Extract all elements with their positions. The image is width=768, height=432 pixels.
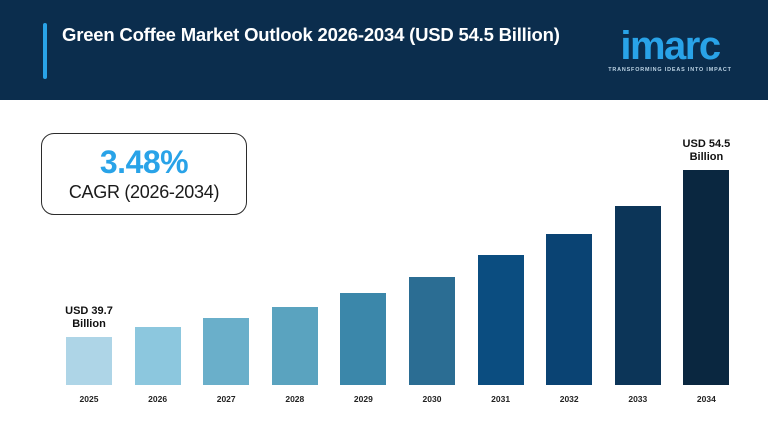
bar-group-2033: 2033 bbox=[615, 206, 661, 385]
x-axis-label-2026: 2026 bbox=[148, 394, 167, 404]
bar-2032[interactable] bbox=[546, 234, 592, 385]
bar-chart: USD 39.7Billion2025202620272028202920302… bbox=[0, 100, 768, 432]
bar-value-label-line2: Billion bbox=[683, 151, 731, 164]
x-axis-label-2027: 2027 bbox=[217, 394, 236, 404]
bar-group-2025: USD 39.7Billion2025 bbox=[66, 337, 112, 385]
x-axis-label-2025: 2025 bbox=[80, 394, 99, 404]
page-title: Green Coffee Market Outlook 2026-2034 (U… bbox=[62, 20, 582, 50]
x-axis-label-2032: 2032 bbox=[560, 394, 579, 404]
logo-wordmark: imarc bbox=[604, 26, 736, 66]
bar-group-2028: 2028 bbox=[272, 307, 318, 385]
bar-group-2029: 2029 bbox=[340, 293, 386, 385]
bar-2026[interactable] bbox=[135, 327, 181, 385]
bar-value-label-line2: Billion bbox=[65, 318, 113, 331]
bar-2033[interactable] bbox=[615, 206, 661, 385]
logo-tagline: TRANSFORMING IDEAS INTO IMPACT bbox=[604, 67, 736, 73]
title-accent-bar bbox=[43, 23, 47, 79]
bar-2030[interactable] bbox=[409, 277, 455, 385]
bar-2031[interactable] bbox=[478, 255, 524, 385]
x-axis-label-2030: 2030 bbox=[423, 394, 442, 404]
bar-value-label-line1: USD 39.7 bbox=[65, 305, 113, 318]
imarc-logo: imarc TRANSFORMING IDEAS INTO IMPACT bbox=[604, 26, 736, 73]
bar-value-label-2025: USD 39.7Billion bbox=[65, 305, 113, 331]
bar-value-label-2034: USD 54.5Billion bbox=[683, 138, 731, 164]
x-axis-label-2031: 2031 bbox=[491, 394, 510, 404]
bar-group-2031: 2031 bbox=[478, 255, 524, 385]
bar-group-2026: 2026 bbox=[135, 327, 181, 385]
x-axis-label-2034: 2034 bbox=[697, 394, 716, 404]
bar-group-2027: 2027 bbox=[203, 318, 249, 385]
x-axis-label-2033: 2033 bbox=[628, 394, 647, 404]
x-axis-label-2028: 2028 bbox=[285, 394, 304, 404]
bar-2029[interactable] bbox=[340, 293, 386, 385]
x-axis-label-2029: 2029 bbox=[354, 394, 373, 404]
bar-group-2030: 2030 bbox=[409, 277, 455, 385]
bar-2034[interactable] bbox=[683, 170, 729, 385]
bar-2027[interactable] bbox=[203, 318, 249, 385]
bar-group-2032: 2032 bbox=[546, 234, 592, 385]
bar-group-2034: USD 54.5Billion2034 bbox=[683, 170, 729, 385]
header-banner: Green Coffee Market Outlook 2026-2034 (U… bbox=[0, 0, 768, 100]
bar-2028[interactable] bbox=[272, 307, 318, 385]
bar-value-label-line1: USD 54.5 bbox=[683, 138, 731, 151]
bar-2025[interactable] bbox=[66, 337, 112, 385]
